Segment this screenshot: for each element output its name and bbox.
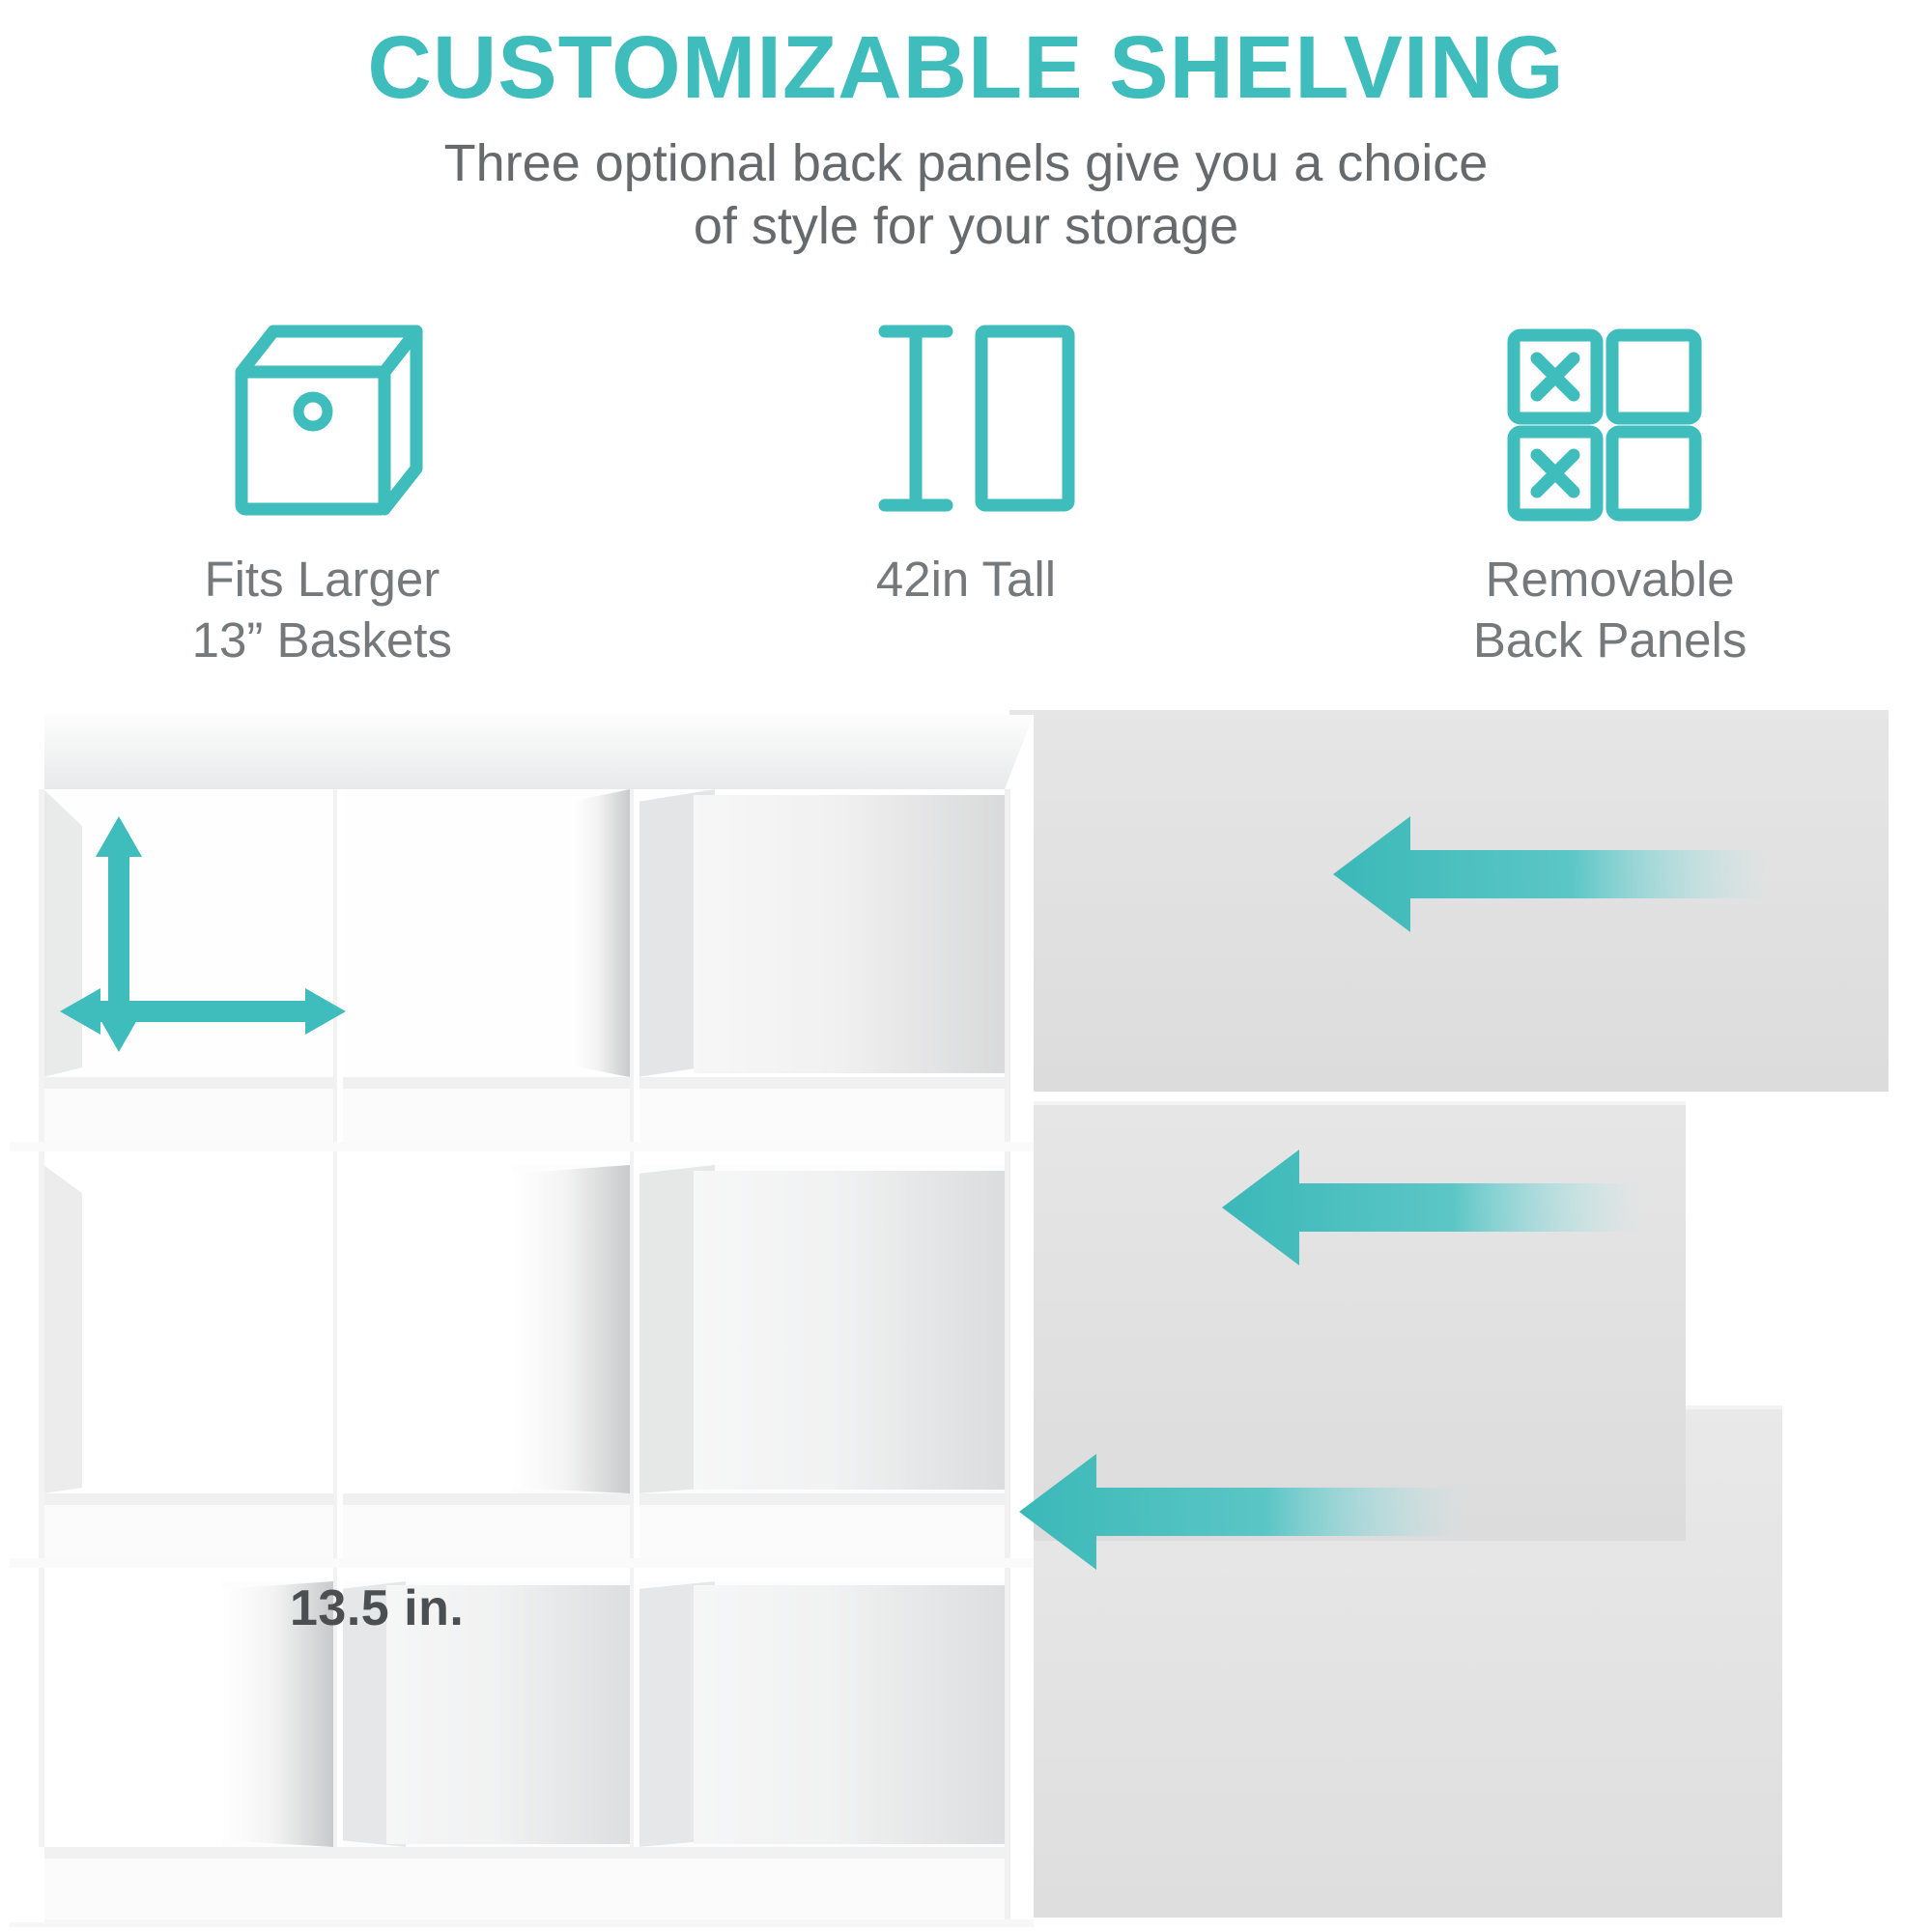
page-subtitle: Three optional back panels give you a ch… [0,115,1932,260]
feature-label-baskets: Fits Larger 13” Baskets [192,549,452,670]
feature-label-panels-line-1: Removable [1486,552,1735,607]
feature-removable-panels: Removable Back Panels [1321,314,1900,670]
shelf-and-panels-svg [0,710,1932,1932]
feature-label-baskets-line-1: Fits Larger [204,552,440,607]
back-panel-top[interactable] [1009,710,1889,1092]
storage-basket-cube-icon [196,314,447,522]
dimension-label: 13.5 in. [290,1579,464,1637]
feature-label-height: 42in Tall [876,549,1056,610]
subtitle-line-1: Three optional back panels give you a ch… [444,134,1489,192]
infographic-header: CUSTOMIZABLE SHELVING Three optional bac… [0,0,1932,259]
feature-label-height-line-1: 42in Tall [876,552,1056,607]
feature-label-panels: Removable Back Panels [1473,549,1747,670]
product-illustration: 13.5 in. [0,710,1932,1932]
subtitle-line-2: of style for your storage [694,197,1238,255]
height-measure-icon [840,314,1092,522]
feature-label-panels-line-2: Back Panels [1473,612,1747,668]
back-panel-middle[interactable] [1009,1101,1686,1541]
page-title: CUSTOMIZABLE SHELVING [0,0,1932,115]
feature-fits-larger-baskets: Fits Larger 13” Baskets [32,314,611,670]
cube-shelf-unit [10,715,1034,1927]
feature-label-baskets-line-2: 13” Baskets [192,612,452,668]
feature-height: 42in Tall [676,314,1256,610]
removable-panels-grid-icon [1485,314,1736,522]
feature-highlights-row: Fits Larger 13” Baskets 42in Tall [0,314,1932,670]
